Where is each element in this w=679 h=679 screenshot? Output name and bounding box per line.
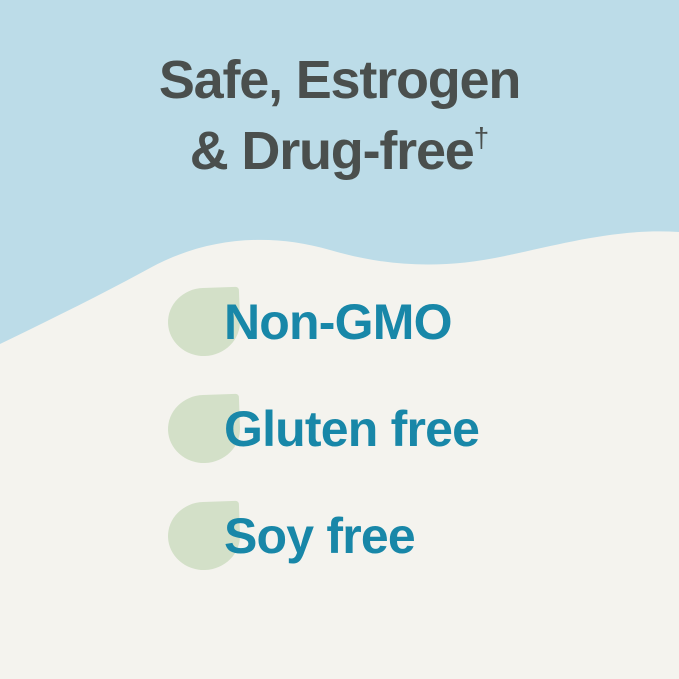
- list-item: Soy free: [0, 497, 679, 604]
- page-title: Safe, Estrogen & Drug-free†: [0, 52, 679, 180]
- benefits-list: Non-GMO Gluten free Soy free: [0, 283, 679, 604]
- headline-line-1: Safe, Estrogen: [0, 52, 679, 109]
- list-item: Non-GMO: [0, 283, 679, 390]
- list-item: Gluten free: [0, 390, 679, 497]
- headline-line-2-text: & Drug-free: [190, 121, 474, 181]
- benefit-label: Soy free: [224, 497, 415, 575]
- benefit-label: Gluten free: [224, 390, 479, 468]
- product-claims-poster: Safe, Estrogen & Drug-free† Non-GMO Glut…: [0, 0, 679, 679]
- headline-line-2: & Drug-free†: [0, 109, 679, 180]
- benefit-label: Non-GMO: [224, 283, 452, 361]
- footnote-marker: †: [474, 122, 490, 153]
